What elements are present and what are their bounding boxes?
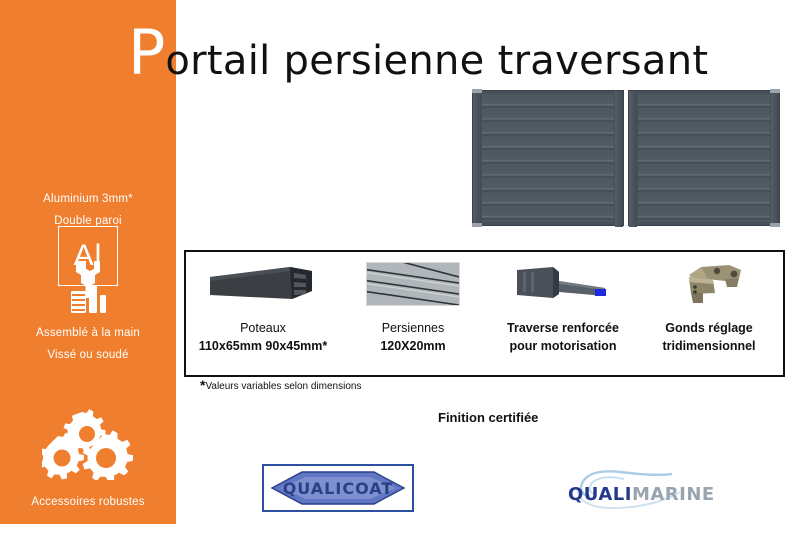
qualicoat-logo: QUALICOAT — [262, 464, 414, 512]
sidebar-aluminium-labels: Aluminium 3mm* Double paroi — [0, 188, 176, 232]
page-title-rest: ortail persienne traversant — [165, 38, 708, 84]
sidebar-label-accessories-1: Accessoires robustes — [0, 491, 176, 513]
component-label-gonds: Gonds réglage — [634, 319, 784, 337]
sidebar-accessories-labels: Accessoires robustes — [0, 491, 176, 513]
sidebar-label-aluminium-2: Double paroi — [0, 210, 176, 232]
reinforced-crossbar-motor-image — [488, 256, 638, 312]
component-spec-traverse: pour motorisation — [488, 337, 638, 355]
qualimarine-text-part2: MARINE — [632, 484, 715, 505]
component-persiennes: Persiennes 120X20mm — [338, 256, 488, 355]
component-poteaux: Poteaux 110x65mm 90x45mm* — [188, 256, 338, 355]
page-title: Portail persienne traversant — [128, 22, 708, 92]
component-gonds: Gonds réglage tridimensionnel — [634, 256, 784, 355]
louver-slats-image — [338, 256, 488, 312]
gate-slats-right — [638, 94, 770, 222]
component-traverse: Traverse renforcée pour motorisation — [488, 256, 638, 355]
qualicoat-logo-text: QUALICOAT — [283, 479, 394, 498]
page-title-initial: P — [128, 16, 165, 89]
wrench-screws-icon — [0, 256, 176, 320]
qualimarine-logo-text: QUALIMARINE — [568, 484, 715, 505]
three-dimensional-hinge-image — [634, 256, 784, 312]
gate-slats-left — [482, 94, 614, 222]
component-spec-poteaux: 110x65mm 90x45mm* — [188, 337, 338, 355]
component-label-traverse: Traverse renforcée — [488, 319, 638, 337]
footnote: *Valeurs variables selon dimensions — [200, 379, 361, 393]
sidebar-assembly-labels: Assemblé à la main Vissé ou soudé — [0, 322, 176, 366]
component-label-persiennes: Persiennes — [338, 319, 488, 337]
footnote-text: Valeurs variables selon dimensions — [205, 381, 361, 392]
double-leaf-louvered-gate-image — [472, 90, 780, 226]
gate-leaf-left — [472, 90, 624, 226]
qualimarine-logo: QUALIMARINE — [560, 466, 712, 512]
component-spec-gonds: tridimensionnel — [634, 337, 784, 355]
gears-icon — [0, 408, 176, 480]
gate-leaf-right — [628, 90, 780, 226]
qualimarine-text-part1: QUALI — [568, 484, 632, 505]
components-box: Poteaux 110x65mm 90x45mm* — [184, 250, 785, 377]
sidebar-label-assembly-2: Vissé ou soudé — [0, 344, 176, 366]
component-spec-persiennes: 120X20mm — [338, 337, 488, 355]
component-label-poteaux: Poteaux — [188, 319, 338, 337]
aluminium-post-profile-image — [188, 256, 338, 312]
sidebar-label-assembly-1: Assemblé à la main — [0, 322, 176, 344]
sidebar-label-aluminium-1: Aluminium 3mm* — [0, 188, 176, 210]
certification-heading: Finition certifiée — [438, 410, 538, 425]
